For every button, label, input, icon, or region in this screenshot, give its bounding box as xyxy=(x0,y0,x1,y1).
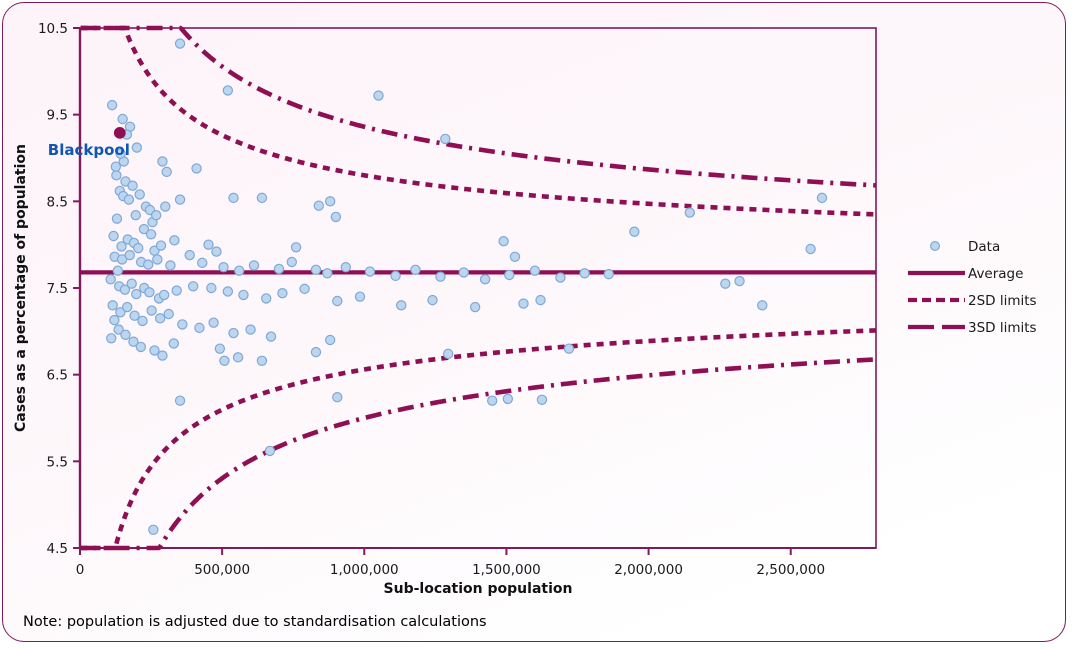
data-point[interactable] xyxy=(246,325,255,334)
data-point[interactable] xyxy=(411,265,420,274)
data-point[interactable] xyxy=(331,212,340,221)
data-point[interactable] xyxy=(265,446,274,455)
data-point[interactable] xyxy=(169,339,178,348)
circle-marker-icon xyxy=(931,242,940,251)
data-point[interactable] xyxy=(112,214,121,223)
data-point[interactable] xyxy=(207,283,216,292)
data-point[interactable] xyxy=(178,320,187,329)
data-point[interactable] xyxy=(123,302,132,311)
data-point[interactable] xyxy=(128,181,137,190)
data-point[interactable] xyxy=(153,255,162,264)
data-point[interactable] xyxy=(314,201,323,210)
data-point[interactable] xyxy=(604,270,613,279)
data-point[interactable] xyxy=(499,237,508,246)
data-point[interactable] xyxy=(156,241,165,250)
plot-wrapper: 4.55.56.57.58.59.510.50500,0001,000,0001… xyxy=(3,3,1066,642)
legend-label: Data xyxy=(968,239,1000,255)
y-tick-label: 6.5 xyxy=(47,368,68,384)
highlight-point-group[interactable]: Blackpool xyxy=(48,127,130,158)
data-point[interactable] xyxy=(175,195,184,204)
data-point[interactable] xyxy=(223,86,232,95)
data-point[interactable] xyxy=(235,266,244,275)
data-point[interactable] xyxy=(127,279,136,288)
data-point[interactable] xyxy=(108,301,117,310)
data-point[interactable] xyxy=(170,236,179,245)
data-point[interactable] xyxy=(161,202,170,211)
data-point[interactable] xyxy=(113,266,122,275)
data-point[interactable] xyxy=(262,294,271,303)
y-axis-title: Cases as a percentage of population xyxy=(13,144,29,432)
data-point[interactable] xyxy=(300,284,309,293)
data-point[interactable] xyxy=(131,211,140,220)
data-point[interactable] xyxy=(510,252,519,261)
x-tick-label: 2,500,000 xyxy=(756,562,825,578)
sd2-limit-curve xyxy=(81,28,876,214)
data-point[interactable] xyxy=(326,197,335,206)
data-point[interactable] xyxy=(685,208,694,217)
data-point[interactable] xyxy=(107,334,116,343)
data-point[interactable] xyxy=(125,250,134,259)
data-point[interactable] xyxy=(164,309,173,318)
data-point[interactable] xyxy=(311,265,320,274)
data-point[interactable] xyxy=(374,91,383,100)
legend-item-2sd-limits[interactable]: 2SD limits xyxy=(908,293,1037,309)
data-point[interactable] xyxy=(391,271,400,280)
data-point[interactable] xyxy=(136,342,145,351)
data-point[interactable] xyxy=(144,260,153,269)
data-point[interactable] xyxy=(365,267,374,276)
data-point[interactable] xyxy=(503,394,512,403)
data-point[interactable] xyxy=(397,301,406,310)
y-tick-label: 5.5 xyxy=(47,454,68,470)
data-point[interactable] xyxy=(257,193,266,202)
x-axis-title: Sub-location population xyxy=(384,581,573,597)
x-tick-label: 1,000,000 xyxy=(330,562,399,578)
x-tick-label: 0 xyxy=(76,562,85,578)
data-point[interactable] xyxy=(287,257,296,266)
data-point[interactable] xyxy=(278,289,287,298)
data-point[interactable] xyxy=(152,211,161,220)
x-tick-label: 1,500,000 xyxy=(472,562,541,578)
data-point[interactable] xyxy=(229,328,238,337)
legend-label: 2SD limits xyxy=(968,293,1037,309)
data-point[interactable] xyxy=(630,227,639,236)
blackpool-point[interactable] xyxy=(114,127,125,138)
legend-item-3sd-limits[interactable]: 3SD limits xyxy=(908,320,1037,336)
data-point[interactable] xyxy=(145,288,154,297)
plot-frame xyxy=(80,28,876,548)
axis-titles: Sub-location populationCases as a percen… xyxy=(13,144,572,597)
x-tick-label: 500,000 xyxy=(194,562,250,578)
data-points[interactable] xyxy=(106,39,826,534)
data-point[interactable] xyxy=(132,289,141,298)
data-point[interactable] xyxy=(156,314,165,323)
funnel-limit-lines xyxy=(81,28,876,548)
data-point[interactable] xyxy=(132,143,141,152)
data-point[interactable] xyxy=(135,190,144,199)
data-point[interactable] xyxy=(215,344,224,353)
data-point[interactable] xyxy=(536,296,545,305)
data-point[interactable] xyxy=(108,101,117,110)
data-point[interactable] xyxy=(436,272,445,281)
sd2-limit-curve xyxy=(81,330,876,548)
data-point[interactable] xyxy=(175,396,184,405)
data-point[interactable] xyxy=(204,240,213,249)
x-tick-label: 2,000,000 xyxy=(614,562,683,578)
data-point[interactable] xyxy=(175,39,184,48)
data-point[interactable] xyxy=(721,279,730,288)
data-point[interactable] xyxy=(333,296,342,305)
data-point[interactable] xyxy=(428,296,437,305)
y-tick-label: 4.5 xyxy=(47,541,68,557)
data-point[interactable] xyxy=(172,286,181,295)
data-point[interactable] xyxy=(505,270,514,279)
data-point[interactable] xyxy=(323,269,332,278)
data-point[interactable] xyxy=(121,330,130,339)
data-point[interactable] xyxy=(274,264,283,273)
data-point[interactable] xyxy=(220,356,229,365)
data-point[interactable] xyxy=(326,335,335,344)
y-tick-label: 8.5 xyxy=(47,194,68,210)
data-point[interactable] xyxy=(519,299,528,308)
data-point[interactable] xyxy=(239,290,248,299)
y-tick-label: 9.5 xyxy=(47,108,68,124)
data-point[interactable] xyxy=(257,356,266,365)
data-point[interactable] xyxy=(138,316,147,325)
data-point[interactable] xyxy=(209,318,218,327)
funnel-plot-svg[interactable]: 4.55.56.57.58.59.510.50500,0001,000,0001… xyxy=(3,3,1066,642)
data-point[interactable] xyxy=(117,242,126,251)
legend[interactable]: DataAverage2SD limits3SD limits xyxy=(908,239,1037,336)
y-tick-label: 10.5 xyxy=(38,21,68,37)
legend-label: Average xyxy=(968,266,1023,282)
data-point[interactable] xyxy=(160,290,169,299)
blackpool-label: Blackpool xyxy=(48,141,130,159)
data-point[interactable] xyxy=(817,193,826,202)
data-point[interactable] xyxy=(481,275,490,284)
data-point[interactable] xyxy=(146,230,155,239)
data-point[interactable] xyxy=(185,250,194,259)
data-point[interactable] xyxy=(195,323,204,332)
data-point[interactable] xyxy=(355,292,364,301)
data-point[interactable] xyxy=(192,164,201,173)
data-point[interactable] xyxy=(158,351,167,360)
data-point[interactable] xyxy=(233,353,242,362)
data-point[interactable] xyxy=(291,243,300,252)
data-point[interactable] xyxy=(124,195,133,204)
data-point[interactable] xyxy=(158,157,167,166)
data-point[interactable] xyxy=(149,525,158,534)
legend-label: 3SD limits xyxy=(968,320,1037,336)
legend-item-data[interactable]: Data xyxy=(931,239,1001,255)
data-point[interactable] xyxy=(311,348,320,357)
data-point[interactable] xyxy=(134,244,143,253)
note-text: Note: population is adjusted due to stan… xyxy=(23,614,487,630)
data-point[interactable] xyxy=(580,269,589,278)
data-point[interactable] xyxy=(537,395,546,404)
data-point[interactable] xyxy=(758,301,767,310)
data-point[interactable] xyxy=(147,306,156,315)
data-point[interactable] xyxy=(249,261,258,270)
data-point[interactable] xyxy=(109,231,118,240)
data-point[interactable] xyxy=(162,167,171,176)
data-point[interactable] xyxy=(189,282,198,291)
chart-card: 4.55.56.57.58.59.510.50500,0001,000,0001… xyxy=(2,2,1066,642)
data-point[interactable] xyxy=(806,244,815,253)
data-point[interactable] xyxy=(118,114,127,123)
data-point[interactable] xyxy=(166,261,175,270)
data-point[interactable] xyxy=(441,134,450,143)
data-point[interactable] xyxy=(112,171,121,180)
data-point[interactable] xyxy=(333,393,342,402)
data-point[interactable] xyxy=(735,276,744,285)
y-tick-label: 7.5 xyxy=(47,281,68,297)
data-point[interactable] xyxy=(471,302,480,311)
legend-item-average[interactable]: Average xyxy=(908,266,1023,282)
data-point[interactable] xyxy=(444,349,453,358)
sd3-limit-curve xyxy=(81,28,876,185)
data-point[interactable] xyxy=(530,266,539,275)
data-point[interactable] xyxy=(229,193,238,202)
data-point[interactable] xyxy=(556,273,565,282)
data-point[interactable] xyxy=(488,396,497,405)
data-point[interactable] xyxy=(266,332,275,341)
note-row: Note: population is adjusted due to stan… xyxy=(23,611,923,630)
data-point[interactable] xyxy=(223,287,232,296)
data-point[interactable] xyxy=(459,268,468,277)
data-point[interactable] xyxy=(110,315,119,324)
data-point[interactable] xyxy=(106,275,115,284)
sd3-limit-curve xyxy=(81,359,876,548)
data-point[interactable] xyxy=(219,263,228,272)
data-point[interactable] xyxy=(341,263,350,272)
data-point[interactable] xyxy=(212,247,221,256)
data-point[interactable] xyxy=(198,258,207,267)
data-point[interactable] xyxy=(564,344,573,353)
